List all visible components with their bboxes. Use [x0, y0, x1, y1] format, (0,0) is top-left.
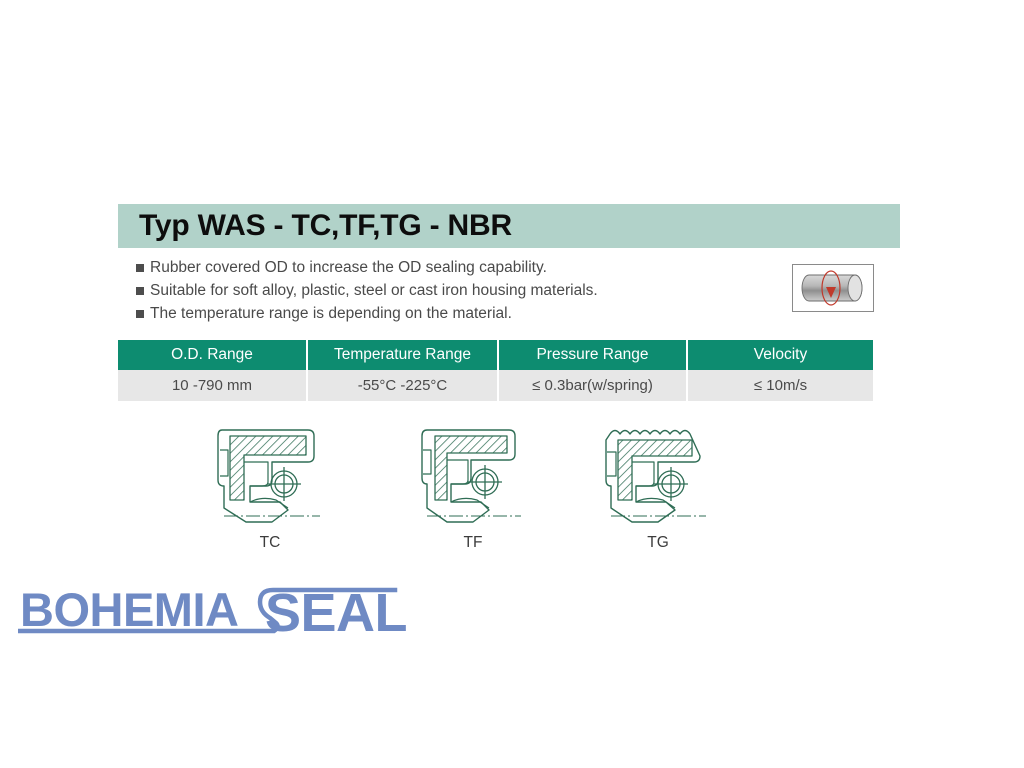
- company-logo: BOHEMIA SEAL: [18, 578, 418, 648]
- cell-temperature-range: -55°C -225°C: [308, 370, 497, 401]
- list-item: Suitable for soft alloy, plastic, steel …: [136, 280, 756, 303]
- datasheet-page: Typ WAS - TC,TF,TG - NBR Rubber covered …: [0, 0, 1024, 768]
- specification-table: O.D. Range Temperature Range Pressure Ra…: [118, 340, 873, 401]
- feature-text: The temperature range is depending on th…: [150, 303, 512, 325]
- cell-pressure-range: ≤ 0.3bar(w/spring): [499, 370, 686, 401]
- svg-text:BOHEMIA: BOHEMIA: [20, 583, 238, 636]
- list-item: Rubber covered OD to increase the OD sea…: [136, 257, 756, 280]
- bullet-square-icon: [136, 310, 144, 318]
- feature-text: Suitable for soft alloy, plastic, steel …: [150, 280, 598, 302]
- seal-label-tg: TG: [598, 534, 718, 552]
- feature-list: Rubber covered OD to increase the OD sea…: [136, 257, 756, 326]
- cell-velocity: ≤ 10m/s: [688, 370, 873, 401]
- feature-text: Rubber covered OD to increase the OD sea…: [150, 257, 547, 279]
- list-item: The temperature range is depending on th…: [136, 303, 756, 326]
- cell-od-range: 10 -790 mm: [118, 370, 306, 401]
- rotating-shaft-icon: [792, 264, 874, 312]
- seal-profile-tf: TF: [413, 422, 533, 552]
- seal-profile-tg: TG: [598, 422, 718, 552]
- column-header-pressure-range: Pressure Range: [499, 340, 686, 370]
- page-title: Typ WAS - TC,TF,TG - NBR: [118, 209, 512, 243]
- column-header-od-range: O.D. Range: [118, 340, 306, 370]
- table-row: 10 -790 mm -55°C -225°C ≤ 0.3bar(w/sprin…: [118, 370, 873, 401]
- table-header-row: O.D. Range Temperature Range Pressure Ra…: [118, 340, 873, 370]
- seal-profile-tc: TC: [210, 422, 330, 552]
- column-header-temperature-range: Temperature Range: [308, 340, 497, 370]
- title-banner: Typ WAS - TC,TF,TG - NBR: [118, 204, 900, 248]
- seal-label-tf: TF: [413, 534, 533, 552]
- seal-profile-gallery: TC: [118, 422, 878, 552]
- bullet-square-icon: [136, 287, 144, 295]
- bullet-square-icon: [136, 264, 144, 272]
- seal-label-tc: TC: [210, 534, 330, 552]
- column-header-velocity: Velocity: [688, 340, 873, 370]
